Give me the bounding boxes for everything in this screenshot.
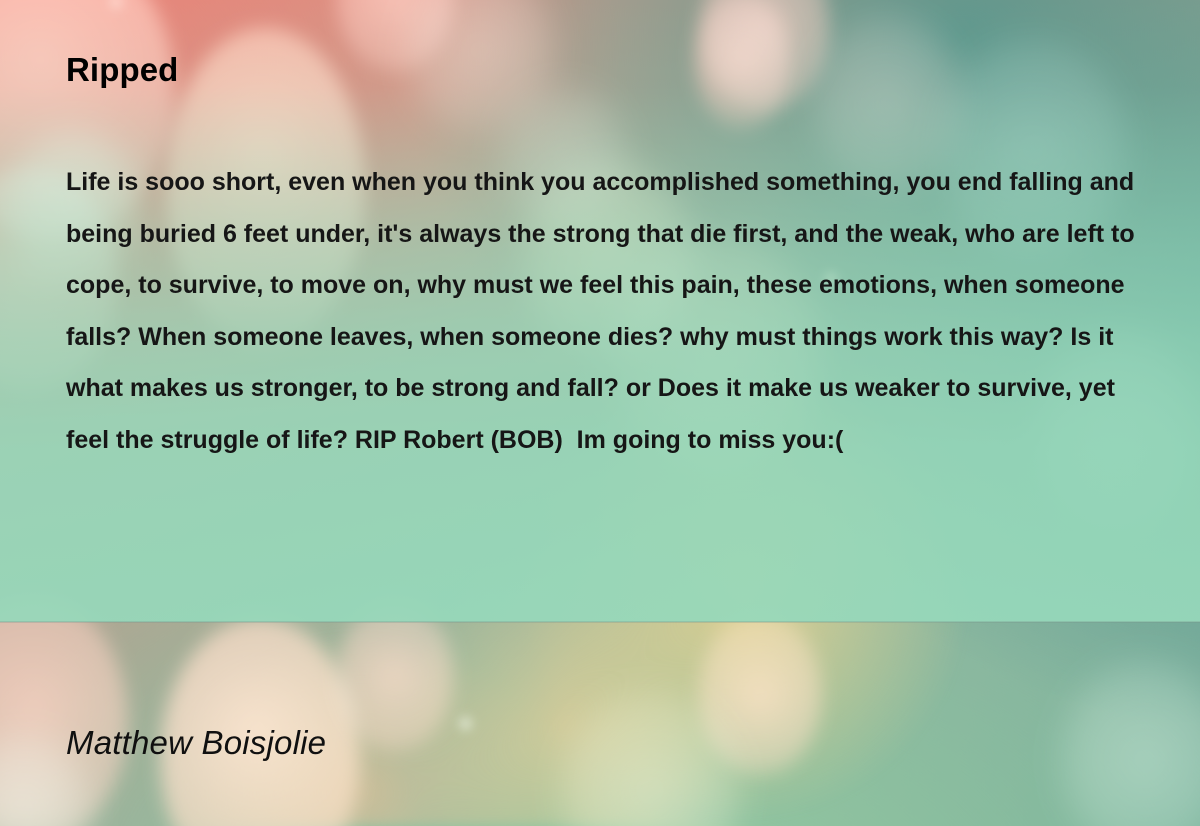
poem-card: Ripped Life is sooo short, even when you… — [0, 0, 1200, 826]
poem-body-text: Life is sooo short, even when you think … — [66, 157, 1156, 466]
poem-author-name: Matthew Boisjolie — [66, 724, 326, 762]
card-content: Ripped Life is sooo short, even when you… — [0, 0, 1200, 826]
page-title: Ripped — [66, 50, 178, 90]
